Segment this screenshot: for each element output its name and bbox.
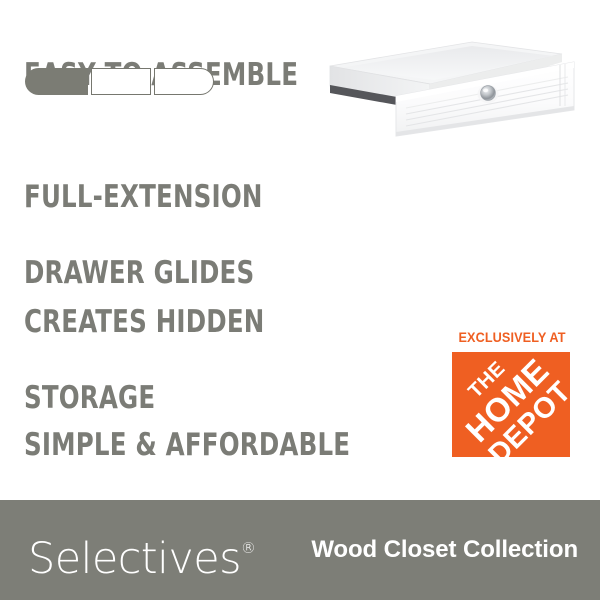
home-depot-exclusivity-badge: EXCLUSIVELY AT THE HOME DEPOT (452, 330, 572, 457)
feature-line: SIMPLE & AFFORDABLE (24, 426, 350, 464)
brand-banner: Selectives® Wood Closet Collection (0, 500, 600, 600)
feature-line: FULL-EXTENSION (24, 178, 263, 216)
drawer-product-image (322, 18, 590, 138)
exclusively-at-label: EXCLUSIVELY AT (456, 330, 569, 346)
brand-name-text: Selectives (28, 534, 241, 584)
progress-segment-3 (154, 68, 214, 95)
home-depot-logo-icon: THE HOME DEPOT (452, 352, 570, 457)
product-infographic: EASY TO ASSEMBLE FULL-EXTENSION DRAWER G… (0, 0, 600, 600)
feature-line: CREATES HIDDEN (24, 303, 264, 341)
brand-logo-selectives: Selectives® (28, 522, 256, 585)
registered-trademark-symbol: ® (241, 539, 256, 557)
collection-name-label: Wood Closet Collection (311, 536, 578, 564)
progress-segment-2 (91, 68, 151, 95)
feature-heading-simple-and-affordable: SIMPLE & AFFORDABLE (24, 388, 350, 502)
assembly-progress-indicator (25, 67, 214, 96)
progress-segment-1 (25, 68, 88, 95)
